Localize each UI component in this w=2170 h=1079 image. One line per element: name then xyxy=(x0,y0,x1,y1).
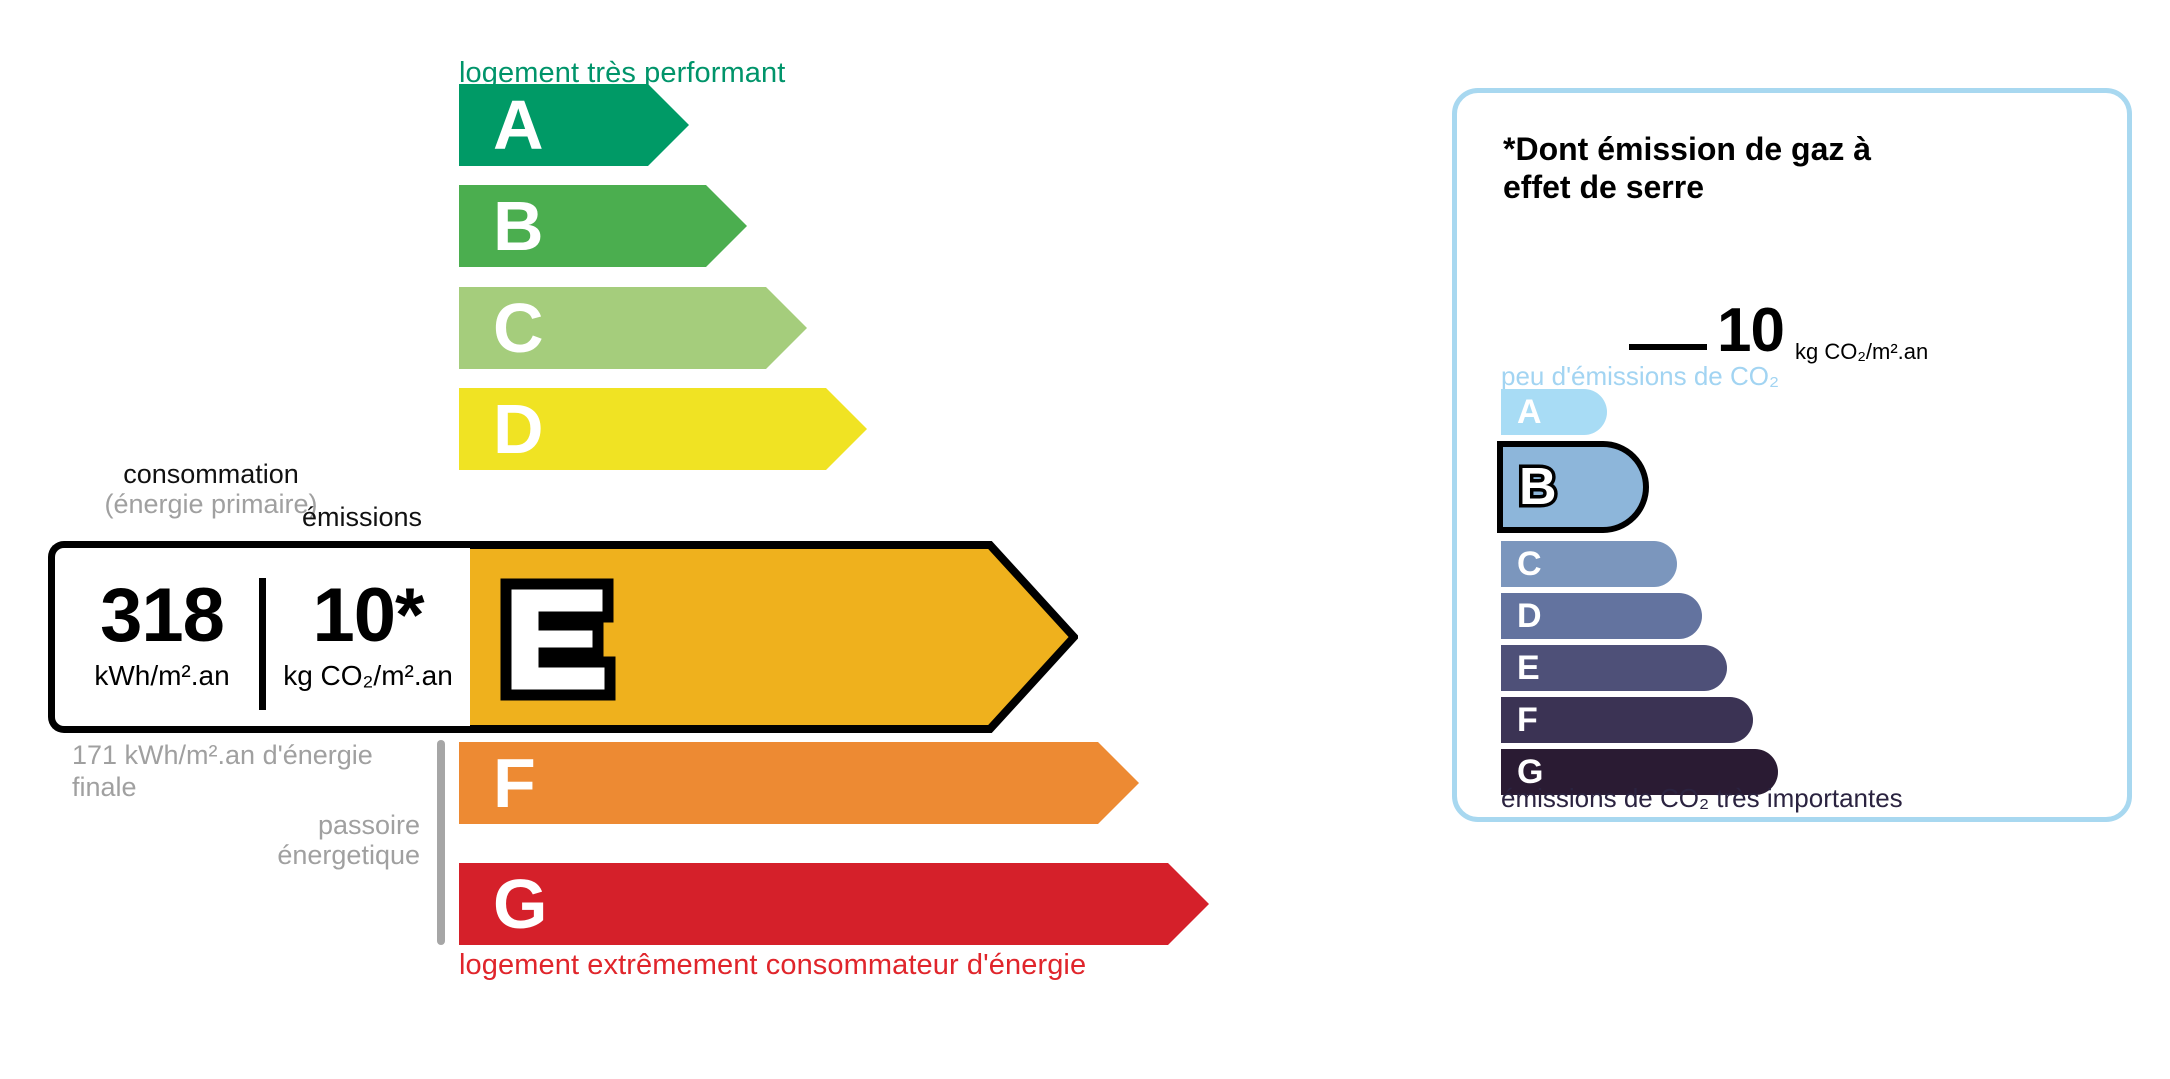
energy-band-c-letter: C xyxy=(493,293,544,363)
co2-top-label: peu d'émissions de CO₂ xyxy=(1501,361,1779,392)
co2-card-title: *Dont émission de gaz à effet de serre xyxy=(1503,131,1923,207)
co2-bar-c: C xyxy=(1501,541,1677,587)
result-values-box: 318 kWh/m².an 10* kg CO₂/m².an xyxy=(48,541,470,733)
dpe-diagram: logement très performant A B C xyxy=(0,0,2170,1079)
energy-band-b: B xyxy=(459,185,747,267)
energy-band-d-letter: D xyxy=(493,394,544,464)
co2-leader-line xyxy=(1629,344,1707,350)
energy-band-a: A xyxy=(459,84,689,166)
energy-band-g-letter: G xyxy=(493,869,547,939)
co2-bar-e: E xyxy=(1501,645,1727,691)
values-divider xyxy=(259,578,266,710)
energy-band-a-letter: A xyxy=(493,90,544,160)
passoire-line-2: énergetique xyxy=(230,840,420,870)
emission-unit: kg CO₂/m².an xyxy=(267,662,469,690)
consumption-label-main: consommation xyxy=(46,459,376,489)
emissions-label: émissions xyxy=(302,502,422,533)
co2-bar-c-letter: C xyxy=(1517,547,1542,581)
co2-bar-b-shape: B xyxy=(1497,441,1649,533)
passoire-energetique-label: passoire énergetique xyxy=(230,810,420,870)
emission-value: 10* xyxy=(267,580,469,652)
final-energy-note: 171 kWh/m².an d'énergie finale xyxy=(72,740,432,804)
co2-bottom-label: émissions de CO₂ très importantes xyxy=(1501,783,1921,813)
band-g-shape xyxy=(459,863,1209,945)
consumption-unit: kWh/m².an xyxy=(67,662,257,690)
band-f-shape xyxy=(459,742,1139,824)
co2-bar-e-letter: E xyxy=(1517,651,1540,685)
passoire-energetique-rule xyxy=(437,740,445,945)
co2-bar-f-letter: F xyxy=(1517,703,1538,737)
energy-band-f: F xyxy=(459,742,1139,824)
energy-result-block: 318 kWh/m².an 10* kg CO₂/m².an xyxy=(48,541,1078,733)
emission-value-group: 10* kg CO₂/m².an xyxy=(267,580,469,690)
consumption-value-group: 318 kWh/m².an xyxy=(67,580,257,690)
co2-bar-b-letter: B xyxy=(1519,461,1557,513)
co2-bar-d-letter: D xyxy=(1517,599,1542,633)
co2-bar-a: A xyxy=(1501,389,1607,435)
energy-band-g: G xyxy=(459,863,1209,945)
co2-bar-a-letter: A xyxy=(1517,395,1542,429)
co2-bar-f: F xyxy=(1501,697,1753,743)
co2-bar-d: D xyxy=(1501,593,1702,639)
energy-scale-panel: logement très performant A B C xyxy=(0,0,1400,1079)
co2-bar-b-selected: B xyxy=(1497,441,1649,533)
energy-band-c: C xyxy=(459,287,807,369)
passoire-line-1: passoire xyxy=(230,810,420,840)
consumption-value: 318 xyxy=(67,580,257,652)
co2-card: *Dont émission de gaz à effet de serre p… xyxy=(1452,88,2132,822)
co2-measured-value: 10 xyxy=(1717,300,1784,362)
co2-measured-unit: kg CO₂/m².an xyxy=(1795,339,1928,365)
energy-bottom-caption: logement extrêmement consommateur d'éner… xyxy=(459,949,1086,982)
energy-band-d: D xyxy=(459,388,867,470)
energy-band-b-letter: B xyxy=(493,191,544,261)
energy-band-f-letter: F xyxy=(493,748,536,818)
